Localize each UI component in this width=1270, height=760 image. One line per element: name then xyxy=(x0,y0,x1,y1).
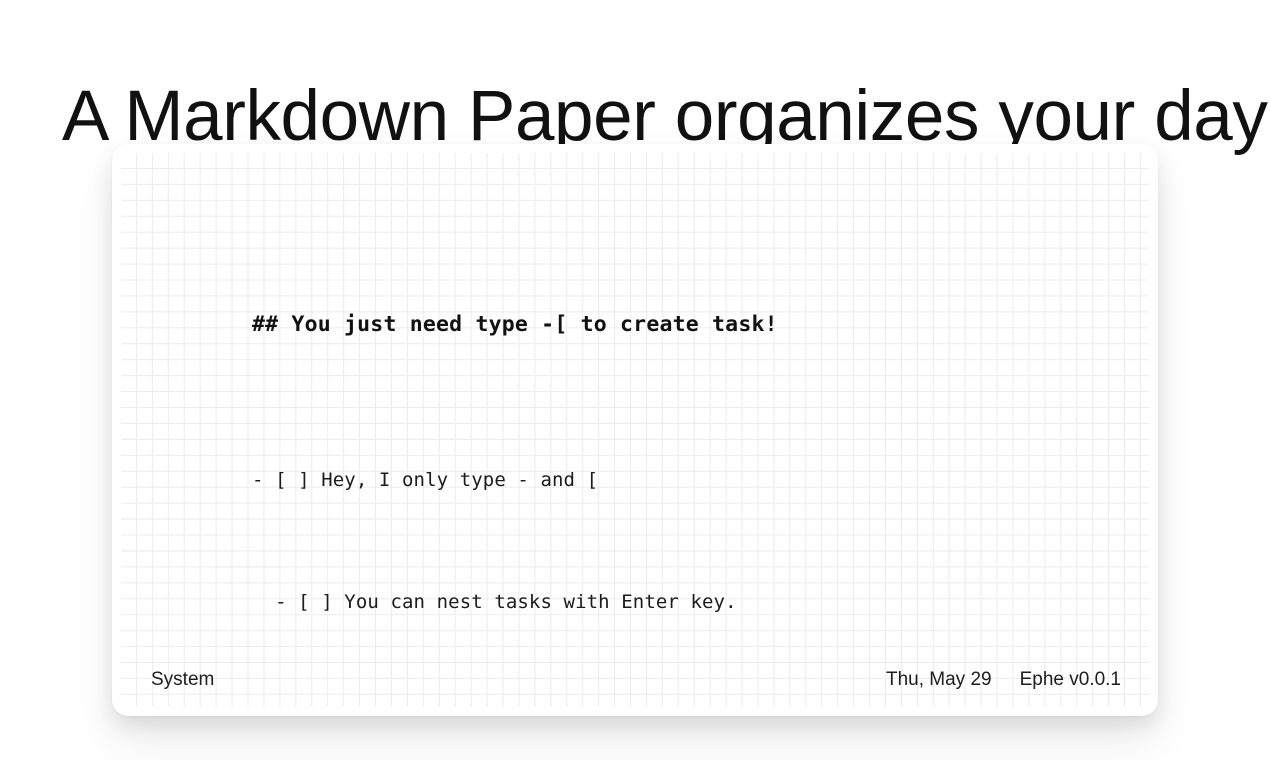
footer-date-label: Thu, May 29 xyxy=(886,669,992,691)
task-item-2[interactable]: - [ ] You can nest tasks with Enter key. xyxy=(252,587,1125,618)
footer-theme-label[interactable]: System xyxy=(151,669,214,691)
markdown-heading-line[interactable]: ## You just need type -[ to create task! xyxy=(252,310,1125,341)
task-item-1[interactable]: - [ ] Hey, I only type - and [ xyxy=(252,465,1125,496)
markdown-editor[interactable]: ## You just need type -[ to create task!… xyxy=(252,218,1125,707)
footer-version-label[interactable]: Ephe v0.0.1 xyxy=(1020,669,1121,691)
grid-paper-surface: ## You just need type -[ to create task!… xyxy=(121,153,1149,707)
paper-footer-bar: System Thu, May 29 Ephe v0.0.1 xyxy=(121,667,1149,693)
footer-right-group: Thu, May 29 Ephe v0.0.1 xyxy=(886,669,1121,691)
markdown-paper-card: ## You just need type -[ to create task!… xyxy=(112,144,1158,716)
